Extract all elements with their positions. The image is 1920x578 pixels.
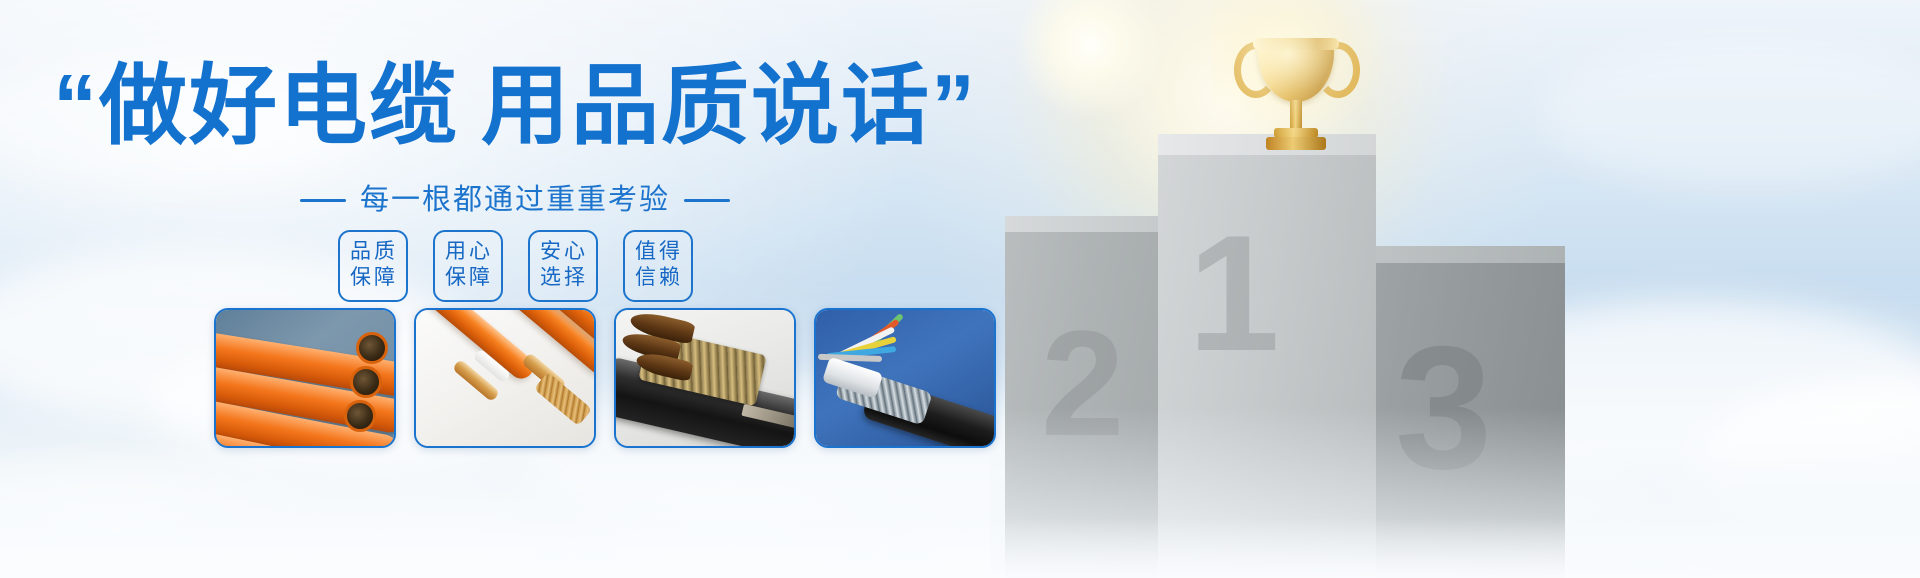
badge-line-2: 选择 (534, 265, 592, 291)
product-image (216, 310, 394, 446)
hero-banner: 2 3 1 “做好电缆用品质说话” 每一根都通过重重考验 (0, 0, 1920, 578)
badge-line-1: 品质 (344, 239, 402, 265)
product-card-orange-cable-cutaway[interactable] (414, 308, 596, 448)
orange-cable-bundle-image (216, 310, 394, 446)
badge-quality-guarantee[interactable]: 品质 保障 (338, 230, 408, 302)
headline-close-quote: ” (931, 56, 977, 155)
banner-content: “做好电缆用品质说话” 每一根都通过重重考验 品质 保障 用心 保障 安心 选择… (0, 0, 1030, 578)
podium-number-1: 1 (1188, 211, 1280, 376)
badge-worry-free-choice[interactable]: 安心 选择 (528, 230, 598, 302)
page-title: “做好电缆用品质说话” (0, 62, 1030, 150)
winner-podium-group: 2 3 1 (990, 0, 1920, 578)
badge-dedicated-guarantee[interactable]: 用心 保障 (433, 230, 503, 302)
badge-line-2: 保障 (344, 265, 402, 291)
product-image (816, 310, 994, 446)
podium-block-3: 3 (1365, 263, 1565, 578)
badge-line-2: 保障 (439, 265, 497, 291)
headline-part-2: 用品质说话 (481, 56, 931, 155)
product-card-black-armoured-cable[interactable] (614, 308, 796, 448)
gold-trophy-icon (1222, 18, 1372, 168)
subtitle-dash-left (300, 199, 346, 202)
badge-line-1: 用心 (439, 239, 497, 265)
product-card-orange-cable-bundle[interactable] (214, 308, 396, 448)
headline-part-1: 做好电缆 (99, 56, 459, 155)
cable-end-tip (356, 332, 388, 364)
badge-trustworthy[interactable]: 值得 信赖 (623, 230, 693, 302)
trophy-stem (1290, 100, 1302, 130)
subtitle-dash-right (684, 199, 730, 202)
cable-end-tip (344, 400, 376, 432)
subtitle-text: 每一根都通过重重考验 (360, 186, 670, 215)
badge-line-1: 安心 (534, 239, 592, 265)
feature-badge-list: 品质 保障 用心 保障 安心 选择 值得 信赖 (0, 230, 1030, 302)
badge-line-1: 值得 (629, 239, 687, 265)
orange-cable-cutaway-image (416, 310, 594, 446)
podium-number-3: 3 (1395, 321, 1492, 496)
cable-end-tip (350, 366, 382, 398)
trophy-rim (1253, 38, 1339, 50)
headline-open-quote: “ (53, 56, 99, 155)
product-image (416, 310, 594, 446)
trophy-cup (1258, 42, 1334, 102)
subtitle: 每一根都通过重重考验 (0, 186, 1030, 215)
trophy-base-lower (1266, 137, 1326, 150)
product-image (616, 310, 794, 446)
product-image-list (214, 308, 996, 448)
podium-block-1: 1 (1158, 155, 1376, 578)
black-armoured-cable-image (616, 310, 794, 446)
product-card-shielded-multicore-cable[interactable] (814, 308, 996, 448)
podium-number-2: 2 (1041, 308, 1124, 458)
shielded-multicore-cable-image (816, 310, 994, 446)
badge-line-2: 信赖 (629, 265, 687, 291)
